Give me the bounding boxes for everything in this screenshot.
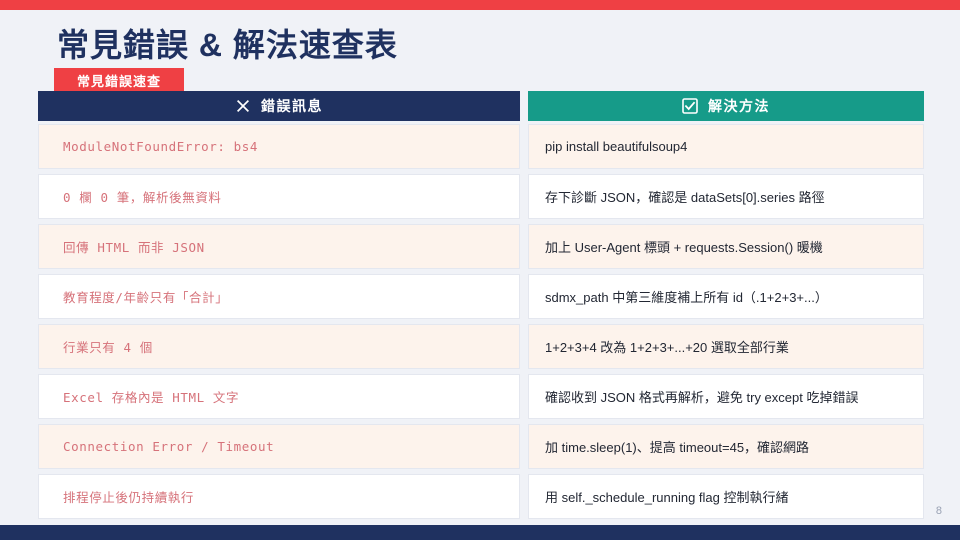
table-row: 確認收到 JSON 格式再解析，避免 try except 吃掉錯誤 [528, 374, 924, 419]
page-title: 常見錯誤 & 解法速查表 [57, 24, 398, 66]
table-row: 教育程度/年齡只有「合計」 [38, 274, 520, 319]
error-cell: Excel 存格內是 HTML 文字 [39, 387, 239, 406]
table-row: 行業只有 4 個 [38, 324, 520, 369]
solution-column: 解決方法 pip install beautifulsoup4 存下診斷 JSO… [528, 91, 924, 524]
error-cell: ModuleNotFoundError: bs4 [39, 139, 258, 154]
solution-cell: 加 time.sleep(1)、提高 timeout=45，確認網路 [529, 437, 817, 456]
solution-cell: 存下診斷 JSON，確認是 dataSets[0].series 路徑 [529, 187, 833, 206]
error-rows: ModuleNotFoundError: bs4 0 欄 0 筆，解析後無資料 … [38, 124, 520, 519]
solution-cell: 1+2+3+4 改為 1+2+3+...+20 選取全部行業 [529, 337, 797, 356]
error-cell: 回傳 HTML 而非 JSON [39, 237, 205, 256]
x-mark-icon [235, 98, 251, 114]
error-cell: 教育程度/年齡只有「合計」 [39, 287, 228, 306]
error-column-header: 錯誤訊息 [38, 91, 520, 121]
table-row: 0 欄 0 筆，解析後無資料 [38, 174, 520, 219]
table-row: 1+2+3+4 改為 1+2+3+...+20 選取全部行業 [528, 324, 924, 369]
error-cell: 排程停止後仍持續執行 [39, 487, 194, 506]
table-row: 用 self._schedule_running flag 控制執行緒 [528, 474, 924, 519]
table-row: sdmx_path 中第三維度補上所有 id（.1+2+3+...） [528, 274, 924, 319]
error-cell: 0 欄 0 筆，解析後無資料 [39, 187, 222, 206]
solution-cell: 加上 User-Agent 標頭 + requests.Session() 暖機 [529, 237, 831, 256]
table-row: 回傳 HTML 而非 JSON [38, 224, 520, 269]
table-row: Connection Error / Timeout [38, 424, 520, 469]
solution-column-header-label: 解決方法 [708, 96, 770, 116]
table-row: Excel 存格內是 HTML 文字 [38, 374, 520, 419]
error-column-header-label: 錯誤訊息 [261, 96, 323, 116]
solution-cell: 用 self._schedule_running flag 控制執行緒 [529, 487, 797, 506]
status-badge: 常見錯誤速查 [54, 68, 184, 92]
table-row: 存下診斷 JSON，確認是 dataSets[0].series 路徑 [528, 174, 924, 219]
comparison-table: 錯誤訊息 ModuleNotFoundError: bs4 0 欄 0 筆，解析… [38, 91, 924, 531]
solution-cell: pip install beautifulsoup4 [529, 139, 695, 154]
table-row: pip install beautifulsoup4 [528, 124, 924, 169]
error-cell: Connection Error / Timeout [39, 439, 274, 454]
table-row: 加 time.sleep(1)、提高 timeout=45，確認網路 [528, 424, 924, 469]
checkbox-checked-icon [682, 98, 698, 114]
slide-canvas: 常見錯誤 & 解法速查表 常見錯誤速查 錯誤訊息 ModuleNotFoundE… [0, 0, 960, 540]
error-column: 錯誤訊息 ModuleNotFoundError: bs4 0 欄 0 筆，解析… [38, 91, 520, 524]
solution-cell: sdmx_path 中第三維度補上所有 id（.1+2+3+...） [529, 287, 836, 306]
page-number: 8 [936, 505, 942, 517]
table-row: ModuleNotFoundError: bs4 [38, 124, 520, 169]
solution-cell: 確認收到 JSON 格式再解析，避免 try except 吃掉錯誤 [529, 387, 866, 406]
solution-column-header: 解決方法 [528, 91, 924, 121]
table-row: 排程停止後仍持續執行 [38, 474, 520, 519]
error-cell: 行業只有 4 個 [39, 337, 153, 356]
solution-rows: pip install beautifulsoup4 存下診斷 JSON，確認是… [528, 124, 924, 519]
table-row: 加上 User-Agent 標頭 + requests.Session() 暖機 [528, 224, 924, 269]
bottom-accent-bar [0, 525, 960, 540]
top-accent-bar [0, 0, 960, 10]
